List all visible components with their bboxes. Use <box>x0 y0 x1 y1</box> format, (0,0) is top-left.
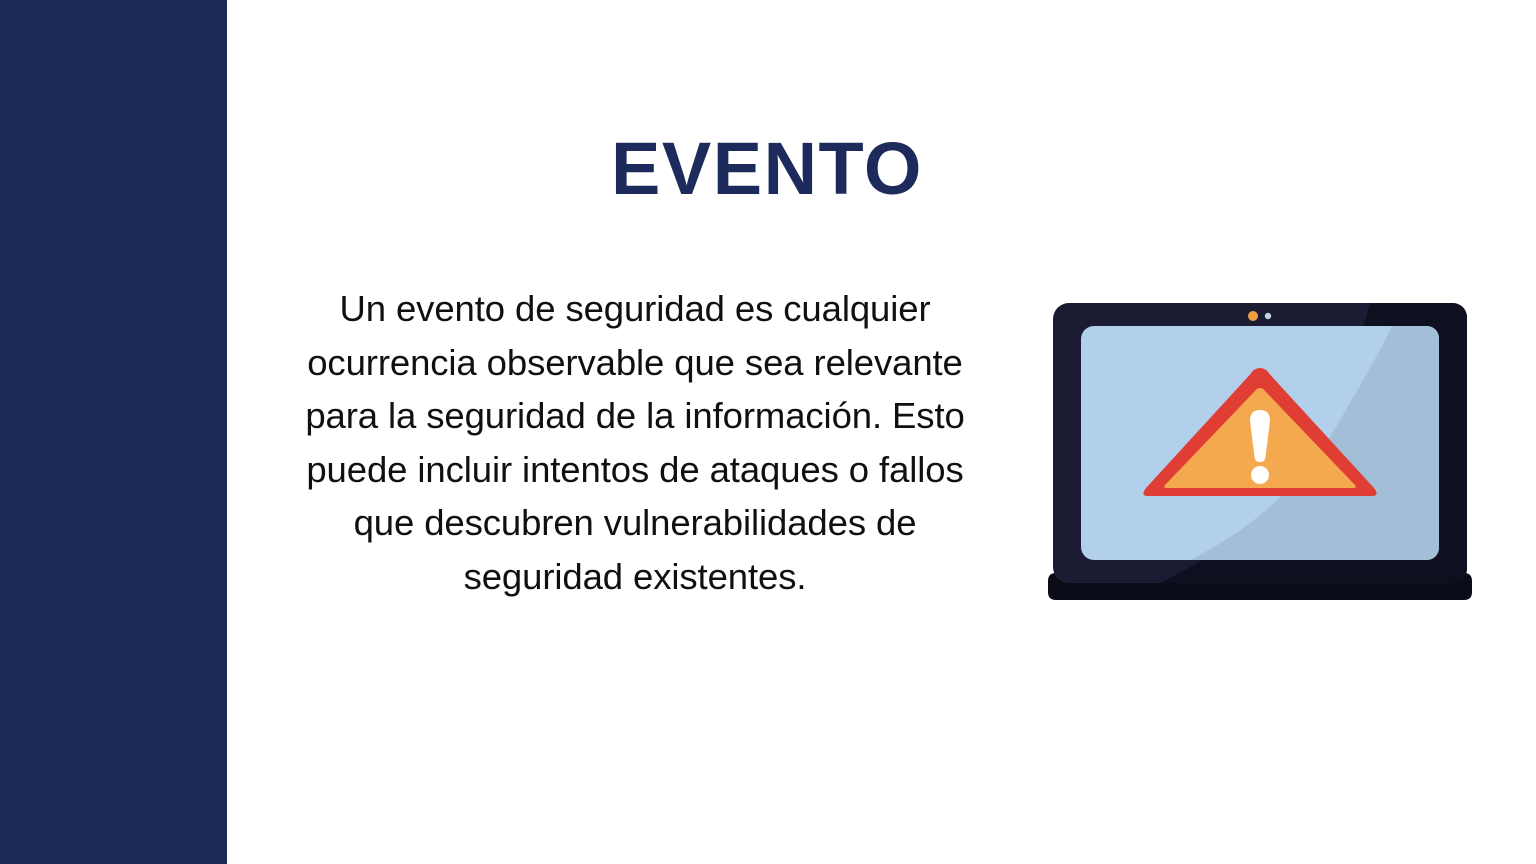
slide-content: EVENTO Un evento de seguridad es cualqui… <box>227 0 1536 864</box>
exclamation-dot <box>1251 466 1269 484</box>
status-indicator-dot <box>1265 313 1271 319</box>
page-title: EVENTO <box>227 132 1307 206</box>
body-paragraph: Un evento de seguridad es cualquier ocur… <box>305 282 965 603</box>
slide-canvas: EVENTO Un evento de seguridad es cualqui… <box>0 0 1536 864</box>
computer-monitor-warning-icon <box>1040 290 1480 610</box>
power-indicator-dot <box>1248 311 1258 321</box>
sidebar-accent-band <box>0 0 227 864</box>
